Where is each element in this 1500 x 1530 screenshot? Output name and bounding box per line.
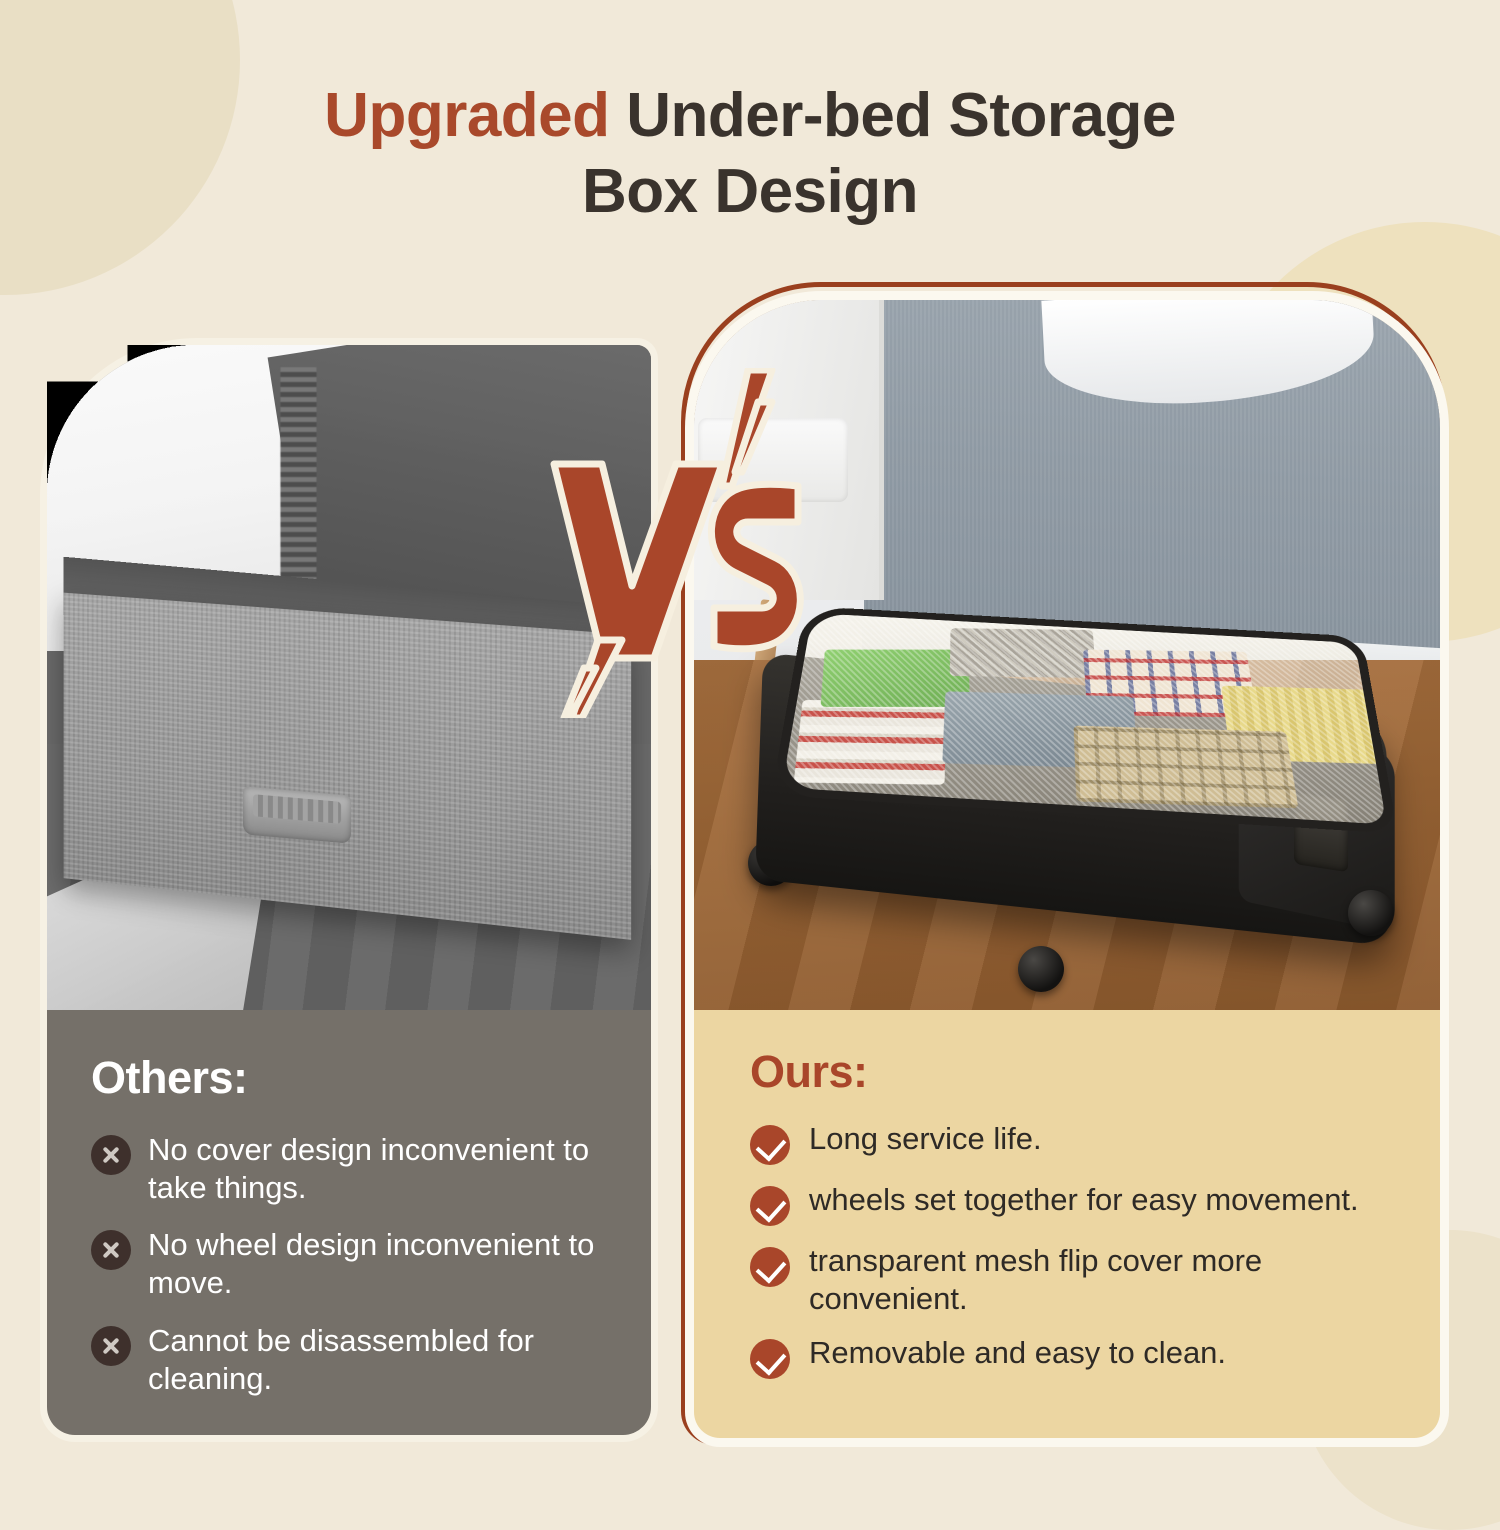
ours-list-item: transparent mesh flip cover more conveni… — [750, 1242, 1404, 1318]
folded-clothes-stack — [794, 700, 947, 785]
ours-photo-storage-box — [738, 590, 1418, 980]
folded-clothes-green — [821, 650, 970, 707]
ours-list-item-label: transparent mesh flip cover more conveni… — [809, 1242, 1404, 1318]
ours-photo-red-accent — [740, 496, 774, 507]
comparison-card-others: Others: No cover design inconvenient to … — [47, 345, 651, 1435]
check-icon — [750, 1247, 790, 1287]
page-title-line-2: Box Design — [0, 154, 1500, 230]
ours-list-item-label: Long service life. — [809, 1120, 1042, 1158]
others-list-item: No wheel design inconvenient to move. — [91, 1226, 617, 1302]
ours-text-panel: Ours: Long service life. wheels set toge… — [694, 1010, 1440, 1438]
ours-list-item-label: wheels set together for easy movement. — [809, 1181, 1359, 1219]
folded-clothes-denim — [942, 691, 1138, 769]
caster-wheel-icon — [1018, 946, 1064, 992]
cross-icon — [91, 1326, 131, 1366]
caster-wheel-icon — [1348, 890, 1394, 936]
others-list-item: Cannot be disassembled for cleaning. — [91, 1322, 617, 1398]
others-list-item: No cover design inconvenient to take thi… — [91, 1131, 617, 1207]
others-heading: Others: — [91, 1052, 617, 1104]
folded-clothes-yellow — [1221, 686, 1386, 765]
folded-clothes-plaid — [1083, 650, 1258, 718]
folded-clothes-khaki — [1074, 726, 1299, 809]
cross-icon — [91, 1135, 131, 1175]
others-product-photo — [47, 345, 651, 1010]
folded-clothes-gray — [950, 628, 1097, 678]
ours-photo-nightstand — [694, 300, 884, 600]
ours-list-item: wheels set together for easy movement. — [750, 1181, 1404, 1226]
others-list-item-label: Cannot be disassembled for cleaning. — [148, 1322, 617, 1398]
check-icon — [750, 1339, 790, 1379]
ours-product-photo — [694, 300, 1440, 1010]
ours-heading: Ours: — [750, 1046, 1404, 1098]
ours-list-item-label: Removable and easy to clean. — [809, 1334, 1226, 1372]
page-title-accent: Upgraded — [324, 81, 609, 150]
check-icon — [750, 1125, 790, 1165]
others-photo-bin-handle — [243, 786, 351, 843]
others-list-item-label: No cover design inconvenient to take thi… — [148, 1131, 617, 1207]
page-title: Upgraded Under-bed Storage Box Design — [0, 78, 1500, 229]
cross-icon — [91, 1230, 131, 1270]
others-list-item-label: No wheel design inconvenient to move. — [148, 1226, 617, 1302]
page-title-line-1: Upgraded Under-bed Storage — [0, 78, 1500, 154]
ours-list-item: Removable and easy to clean. — [750, 1334, 1404, 1379]
page-title-line-1-rest: Under-bed Storage — [610, 81, 1176, 150]
check-icon — [750, 1186, 790, 1226]
ours-list-item: Long service life. — [750, 1120, 1404, 1165]
storage-box-mesh-cover — [771, 606, 1398, 834]
others-text-panel: Others: No cover design inconvenient to … — [47, 1010, 651, 1435]
comparison-card-ours: Ours: Long service life. wheels set toge… — [694, 300, 1440, 1438]
